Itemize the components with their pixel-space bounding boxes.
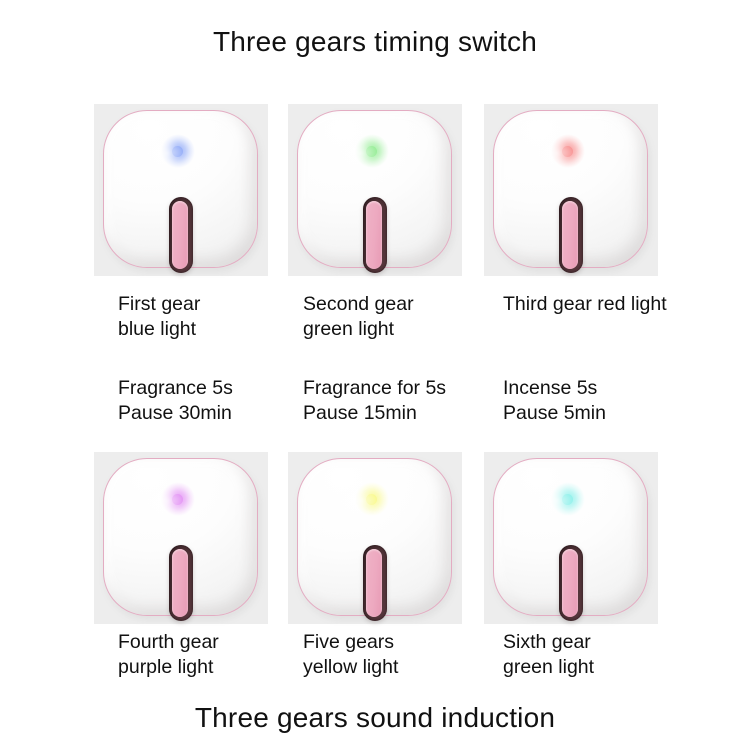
green-led [366,146,377,157]
gear-label-2: Second gear green light [303,292,414,342]
power-button-cap-5 [366,549,382,617]
power-button-3[interactable] [559,197,583,273]
gear-cell-2 [282,104,472,276]
power-button-cap-6 [562,549,578,617]
gear-label-3: Third gear red light [503,292,667,317]
gear-timing-2: Fragrance for 5s Pause 15min [303,376,446,426]
gear-timing-3-line2: Pause 5min [503,401,606,426]
gear-cell-3 [478,104,668,276]
gear-label-5-line1: Five gears [303,630,398,655]
gear-label-2-line1: Second gear [303,292,414,317]
gear-label-4: Fourth gear purple light [118,630,219,680]
power-button-cap-2 [366,201,382,269]
device-plate-6 [484,452,658,624]
gear-label-5-line2: yellow light [303,655,398,680]
gear-cell-5 [282,452,472,624]
gear-label-1-line2: blue light [118,317,200,342]
diffuser-device-2[interactable] [297,110,452,268]
power-button-2[interactable] [363,197,387,273]
yellow-led [366,494,377,505]
diffuser-device-5[interactable] [297,458,452,616]
device-plate-3 [484,104,658,276]
purple-led [172,494,183,505]
red-led [562,146,573,157]
gear-cell-6 [478,452,668,624]
gear-label-1-line1: First gear [118,292,200,317]
power-button-4[interactable] [169,545,193,621]
gear-timing-1-line1: Fragrance 5s [118,376,233,401]
device-plate-4 [94,452,268,624]
product-infographic: Three gears timing switch [0,0,750,750]
gear-cell-1 [88,104,278,276]
blue-led [172,146,183,157]
gear-label-6-line1: Sixth gear [503,630,594,655]
gear-label-4-line1: Fourth gear [118,630,219,655]
cyan-led [562,494,573,505]
gear-label-6-line2: green light [503,655,594,680]
gear-cell-4 [88,452,278,624]
bottom-heading: Three gears sound induction [0,702,750,734]
gear-label-5: Five gears yellow light [303,630,398,680]
diffuser-device-4[interactable] [103,458,258,616]
gear-label-2-line2: green light [303,317,414,342]
power-button-cap-3 [562,201,578,269]
gear-timing-1: Fragrance 5s Pause 30min [118,376,233,426]
gear-label-4-line2: purple light [118,655,219,680]
gear-label-3-line1: Third gear red light [503,292,667,317]
gear-label-6: Sixth gear green light [503,630,594,680]
gear-timing-1-line2: Pause 30min [118,401,233,426]
gear-label-1: First gear blue light [118,292,200,342]
diffuser-device-6[interactable] [493,458,648,616]
power-button-cap-4 [172,549,188,617]
diffuser-device-3[interactable] [493,110,648,268]
gear-timing-3: Incense 5s Pause 5min [503,376,606,426]
device-plate-5 [288,452,462,624]
device-plate-1 [94,104,268,276]
power-button-6[interactable] [559,545,583,621]
top-heading: Three gears timing switch [0,26,750,58]
diffuser-device-1[interactable] [103,110,258,268]
power-button-cap-1 [172,201,188,269]
gear-timing-3-line1: Incense 5s [503,376,606,401]
power-button-5[interactable] [363,545,387,621]
gear-timing-2-line2: Pause 15min [303,401,446,426]
gear-timing-2-line1: Fragrance for 5s [303,376,446,401]
power-button-1[interactable] [169,197,193,273]
device-plate-2 [288,104,462,276]
